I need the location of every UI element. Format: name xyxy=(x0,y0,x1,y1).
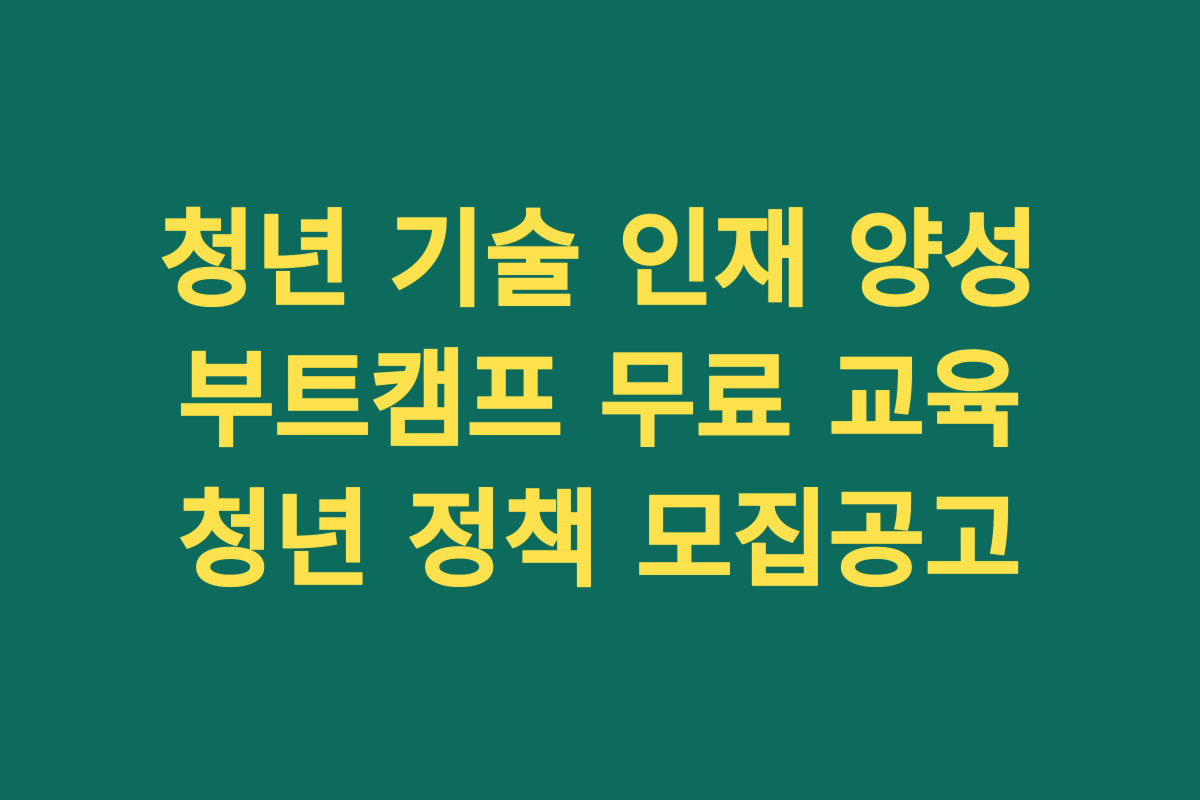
poster-canvas: 청년 기술 인재 양성 부트캠프 무료 교육 청년 정책 모집공고 xyxy=(0,0,1200,800)
headline-block: 청년 기술 인재 양성 부트캠프 무료 교육 청년 정책 모집공고 xyxy=(119,190,1081,610)
page-title: 청년 기술 인재 양성 부트캠프 무료 교육 청년 정책 모집공고 xyxy=(119,190,1081,610)
